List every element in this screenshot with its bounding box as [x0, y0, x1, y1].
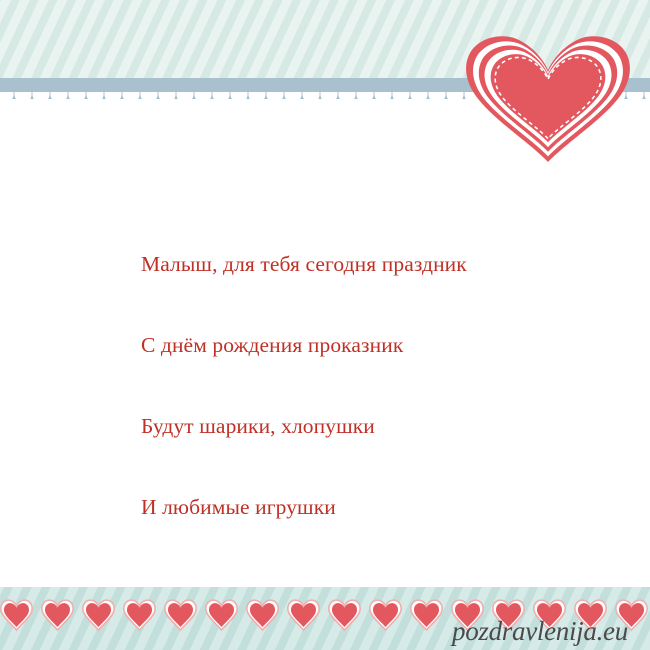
poem-line: И любимые игрушки	[141, 494, 561, 521]
poem-line: Малыш, для тебя сегодня праздник	[141, 251, 561, 278]
site-watermark: pozdravlenija.eu	[452, 616, 628, 647]
poem-line: С днём рождения проказник	[141, 332, 561, 359]
footer-zigzag-edge	[0, 569, 650, 588]
poem-line: Будут шарики, хлопушки	[141, 413, 561, 440]
greeting-card: Малыш, для тебя сегодня праздник С днём …	[0, 0, 650, 650]
poem-stanza-1: Малыш, для тебя сегодня праздник С днём …	[141, 197, 561, 575]
